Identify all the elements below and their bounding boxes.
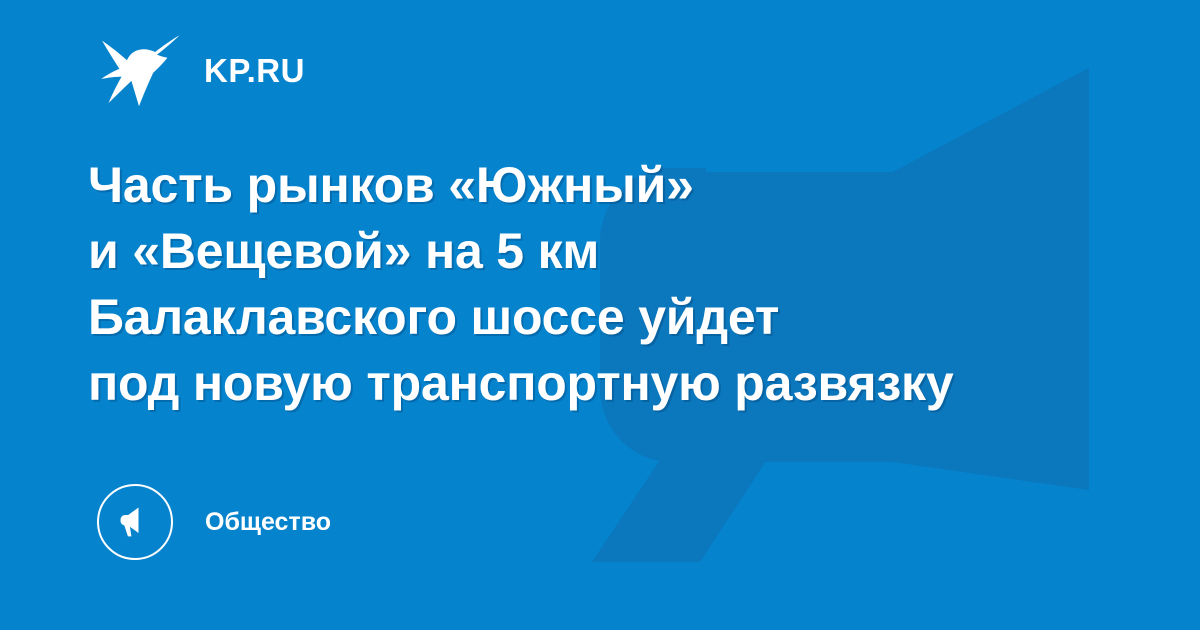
category-badge[interactable]: Общество <box>97 484 331 560</box>
brand-name: KP.RU <box>204 54 305 87</box>
swallow-bird-icon <box>100 33 182 107</box>
megaphone-icon <box>115 502 155 542</box>
headline-line-1: Часть рынков «Южный» <box>88 152 1108 218</box>
page-title: Часть рынков «Южный» и «Вещевой» на 5 км… <box>88 152 1108 416</box>
headline-line-3: Балаклавского шоссе уйдет <box>88 284 1108 350</box>
category-label: Общество <box>205 510 331 535</box>
brand-logo[interactable]: KP.RU <box>100 33 305 107</box>
headline-line-4: под новую транспортную развязку <box>88 350 1108 416</box>
category-icon-circle <box>97 484 173 560</box>
headline-line-2: и «Вещевой» на 5 км <box>88 218 1108 284</box>
social-share-card: KP.RU Часть рынков «Южный» и «Вещевой» н… <box>0 0 1200 630</box>
